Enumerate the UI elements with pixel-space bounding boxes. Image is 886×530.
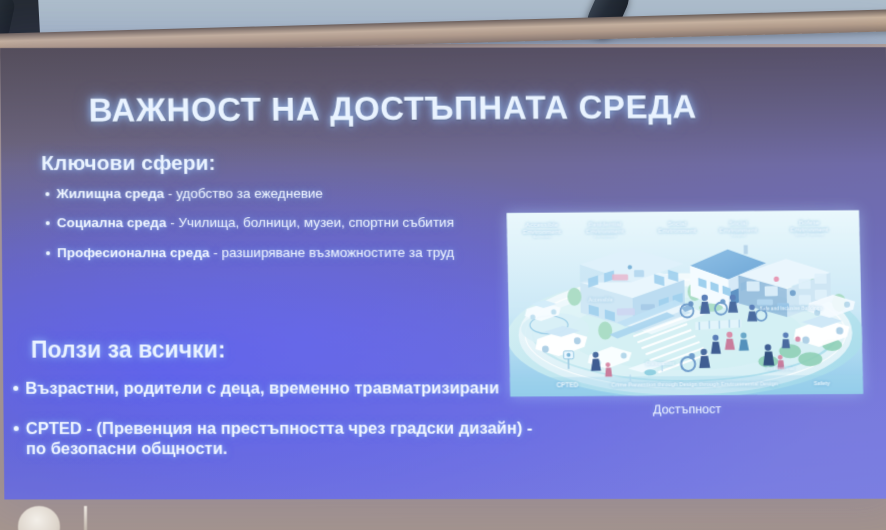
figure-label-residential-environment: Residential Environment Environment [573, 222, 637, 239]
figure-caption: Достъпност [510, 401, 863, 418]
bullet-dot-icon [45, 192, 49, 196]
audience-object [84, 506, 87, 530]
bullet-dot-icon [46, 222, 50, 226]
bullet-rest: - удобство за ежедневие [164, 186, 323, 201]
bullet-rest: - разширяване възможностите за труд [209, 245, 454, 260]
figure-inner-label-environment: Environment [628, 362, 692, 367]
bullet-rest: CPTED - (Превенция на престъпността чрез… [26, 419, 546, 460]
list-item: Жилищна среда - удобство за ежедневие [45, 186, 476, 203]
list-item: Възрастни, родители с деца, временно тра… [13, 378, 545, 399]
figure-accessibility: Accessible Environment Accessible Reside… [507, 210, 864, 396]
bullet-dot-icon [14, 426, 19, 431]
figure-label-social-environment: Social Environment [647, 221, 707, 235]
figure-label-social-environment-hospital: Social Environment Hospital [707, 221, 769, 238]
list-item: CPTED - (Превенция на престъпността чрез… [14, 419, 546, 460]
bullet-rest: Възрастни, родители с деца, временно тра… [25, 378, 499, 399]
figure-inner-label-accessible: Accessible [570, 298, 630, 303]
bullet-lead: Професионална среда [57, 245, 210, 260]
section-heading-benefits: Ползи за всички: [31, 336, 226, 363]
bullet-dot-icon [13, 386, 18, 391]
figure-label-cpted-acronym: CPTED [546, 383, 588, 390]
room-photo: ВАЖНОСТ НА ДОСТЪПНАТА СРЕДА Ключови сфер… [0, 0, 886, 530]
list-item: Социална среда - Училища, болници, музеи… [46, 215, 477, 232]
figure-label-professional-environment: Bofese Environment Smart Transition [773, 220, 845, 237]
accessibility-illustration-image: Accessible Environment Accessible Reside… [507, 210, 864, 396]
bullet-dot-icon [46, 251, 50, 255]
list-item: Професионална среда - разширяване възмож… [46, 245, 477, 262]
bullet-lead: Социална среда [57, 216, 167, 231]
figure-inner-label-professional: Professional [750, 367, 810, 372]
projected-slide: ВАЖНОСТ НА ДОСТЪПНАТА СРЕДА Ключови сфер… [0, 47, 886, 499]
slide-title: ВАЖНОСТ НА ДОСТЪПНАТА СРЕДА [88, 88, 697, 130]
bullet-lead: Жилищна среда [56, 186, 164, 201]
figure-label-accessible-environment: Accessible Environment Accessible [511, 222, 573, 239]
bullet-list-key-areas: Жилищна среда - удобство за ежедневие Со… [45, 186, 477, 275]
figure-inner-label-buildings: Safe and Inclusive Buildings [759, 307, 823, 312]
bullet-rest: - Училища, болници, музеи, спортни събит… [166, 215, 454, 230]
bullet-list-benefits: Възрастни, родители с деца, временно тра… [13, 378, 546, 479]
figure-label-safety: Safety [799, 382, 845, 388]
section-heading-key-areas: Ключови сфери: [41, 152, 216, 176]
